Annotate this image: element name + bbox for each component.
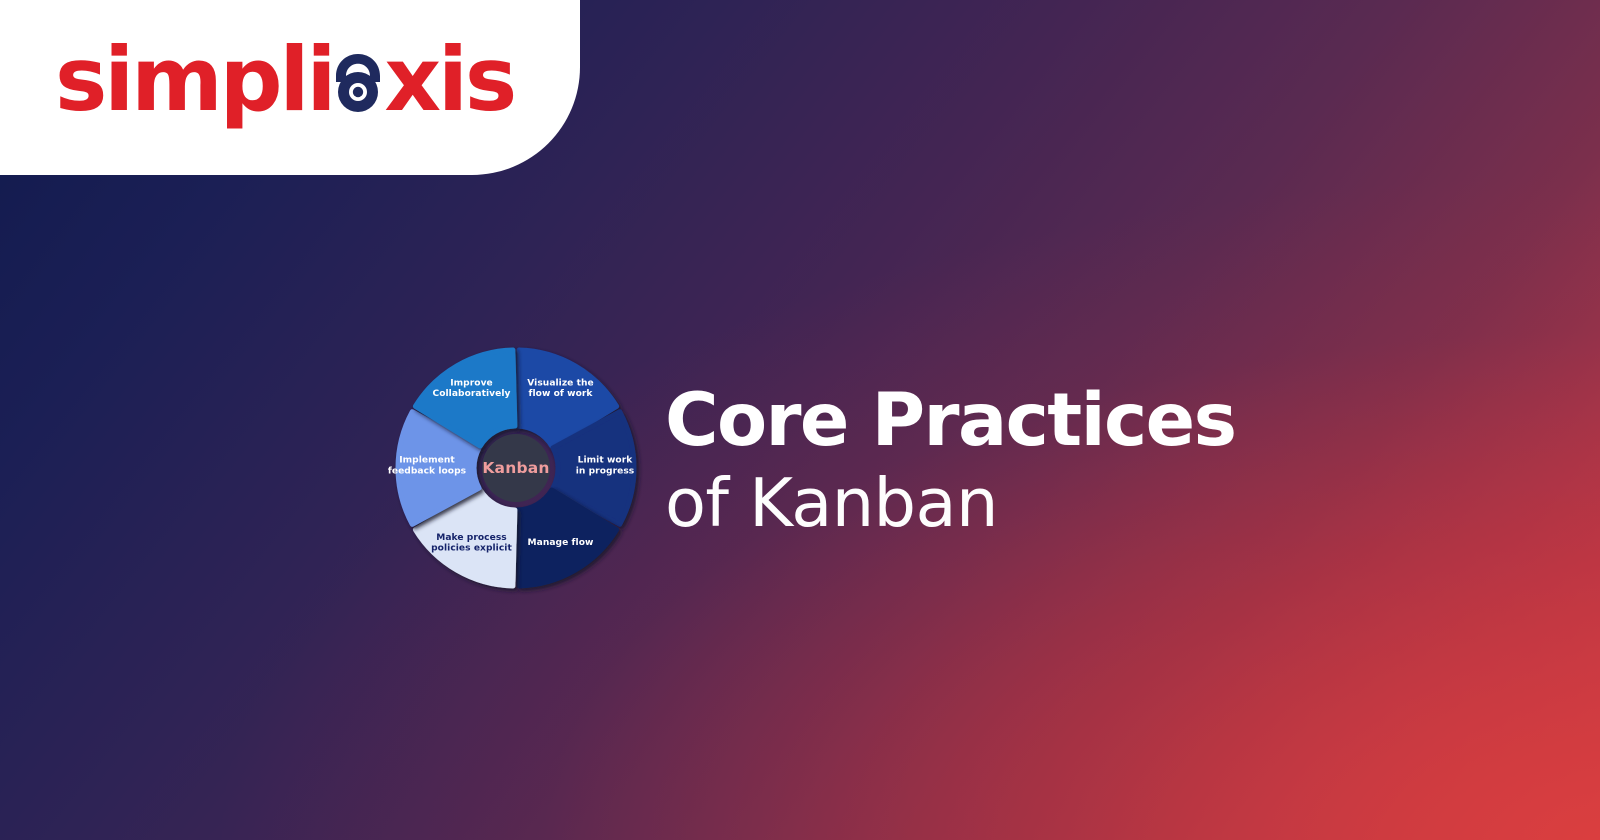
donut-slice-label: Visualize theflow of work	[527, 379, 594, 400]
logo-text-before: simpli	[55, 36, 333, 124]
donut-center-label: Kanban	[482, 459, 549, 477]
logo-text-after: xis	[384, 36, 514, 124]
donut-slice-label: Implementfeedback loops	[388, 456, 466, 477]
donut-svg: Kanban Visualize theflow of workLimit wo…	[383, 335, 649, 601]
slide-canvas: simpli xis Kanban Visualize t	[0, 0, 1600, 840]
headline-line-1: Core Practices	[665, 383, 1365, 459]
brand-logo-wordmark[interactable]: simpli xis	[55, 36, 514, 124]
headline-line-2: of Kanban	[665, 464, 1365, 543]
kanban-core-practices-donut-chart: Kanban Visualize theflow of workLimit wo…	[383, 335, 649, 601]
donut-slice-label: Manage flow	[528, 538, 594, 548]
donut-slice-label: Make processpolicies explicit	[431, 533, 512, 554]
donut-slice-label: Limit workin progress	[576, 456, 635, 477]
brand-logo-panel: simpli xis	[0, 0, 580, 175]
headline-block: Core Practices of Kanban	[665, 383, 1365, 543]
logo-a-open-access-icon	[330, 52, 386, 114]
